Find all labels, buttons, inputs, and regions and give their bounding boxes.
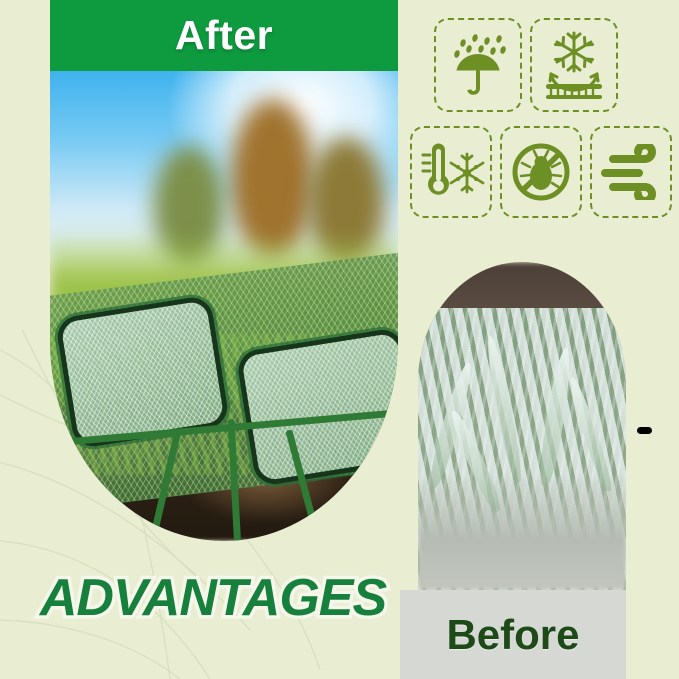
feature-icon-box-pest-protection [500, 126, 582, 218]
feature-icon-row-1 [410, 18, 672, 112]
feature-icon-box-windproof [590, 126, 672, 218]
feature-icon-grid [410, 18, 672, 218]
thermometer-snowflake-icon [417, 140, 485, 204]
before-photo [418, 262, 626, 590]
wind-lines-icon [599, 144, 663, 200]
before-band: Before [400, 590, 626, 679]
feature-icon-box-snow-protection [530, 18, 618, 112]
product-feature-graphic: After ADVANTAGES [0, 0, 679, 679]
umbrella-rain-icon [447, 32, 509, 98]
mesh-window [235, 327, 398, 488]
feature-icon-box-rainproof [434, 18, 522, 112]
feature-icon-box-temperature [410, 126, 492, 218]
snow-ground-layer [418, 478, 626, 590]
feature-icon-row-2 [410, 126, 672, 218]
after-photo [50, 71, 398, 541]
after-banner: After [50, 0, 398, 71]
advantages-headline: ADVANTAGES [28, 568, 398, 628]
snowflake-fabric-icon [541, 30, 607, 100]
after-label: After [175, 12, 273, 59]
before-label: Before [446, 611, 579, 659]
photo-marker-right [637, 427, 652, 434]
no-bug-icon [510, 141, 572, 203]
